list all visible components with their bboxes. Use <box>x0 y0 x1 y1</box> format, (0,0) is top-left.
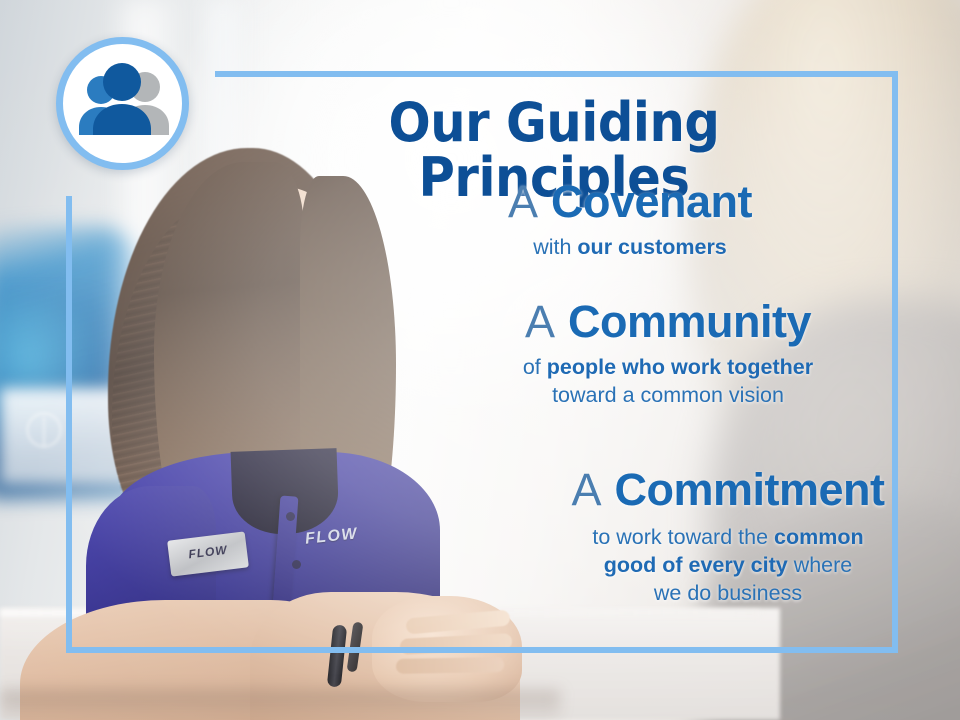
principle-community: A Community of people who work togethert… <box>398 298 938 409</box>
principle-commitment-article: A <box>571 464 602 515</box>
principle-commitment-subtext: to work toward the commongood of every c… <box>458 523 960 608</box>
principle-commitment: A Commitment to work toward the commongo… <box>458 466 960 608</box>
principle-community-article: A <box>525 296 556 347</box>
principle-covenant-article: A <box>508 176 539 227</box>
principle-commitment-word: Commitment <box>615 464 885 515</box>
text-content: Our Guiding Principles A Covenant with o… <box>0 0 960 720</box>
principle-covenant: A Covenant with our customers <box>360 178 900 261</box>
principle-commitment-heading: A Commitment <box>458 466 960 515</box>
principle-covenant-word: Covenant <box>551 176 752 227</box>
principle-covenant-subtext: with our customers <box>360 233 900 261</box>
principle-community-subtext: of people who work togethertoward a comm… <box>398 353 938 410</box>
banner-stage: FLOW FLOW Our <box>0 0 960 720</box>
principle-covenant-heading: A Covenant <box>360 178 900 227</box>
principle-community-word: Community <box>568 296 811 347</box>
principle-community-heading: A Community <box>398 298 938 347</box>
